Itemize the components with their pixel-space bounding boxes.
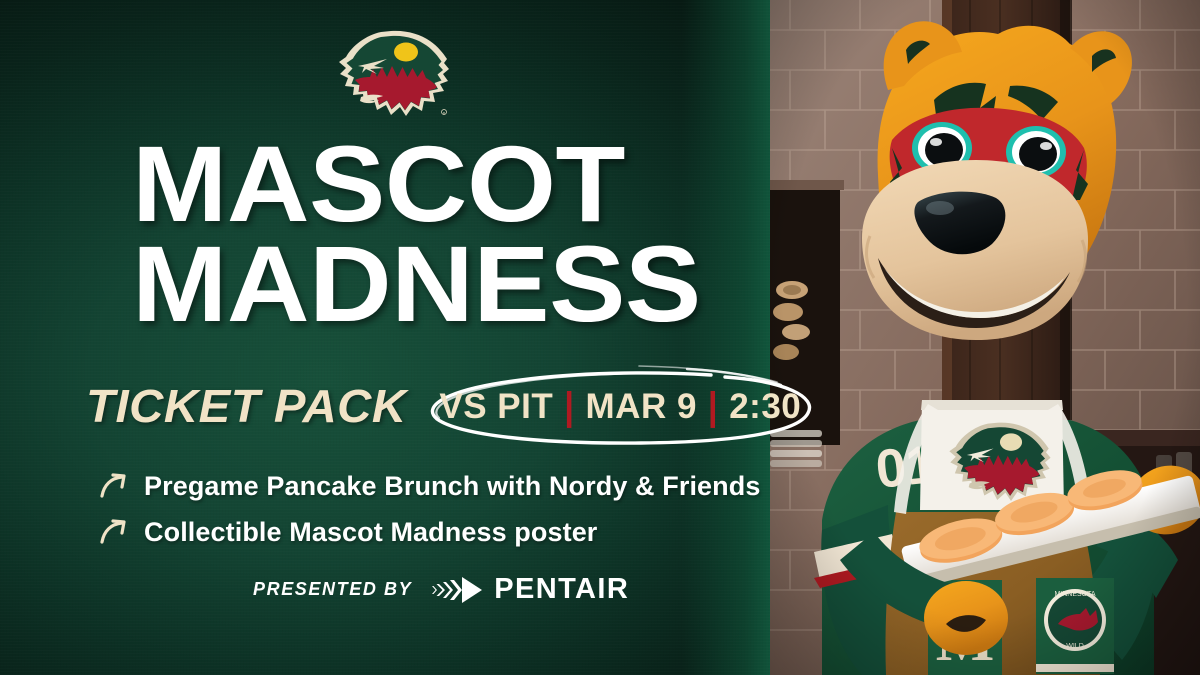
badge-time: 2:30 bbox=[729, 387, 801, 427]
pentair-arrow-icon bbox=[432, 575, 486, 605]
list-item: Collectible Mascot Madness poster bbox=[98, 511, 760, 553]
badge-text: VS PIT | MAR 9 | 2:30 bbox=[439, 387, 801, 427]
list-item: Pregame Pancake Brunch with Nordy & Frie… bbox=[98, 465, 760, 507]
ticket-pack-label: TICKET PACK bbox=[86, 379, 407, 433]
headline-line-2: MADNESS bbox=[132, 234, 701, 334]
game-info-badge: VS PIT | MAR 9 | 2:30 bbox=[425, 363, 815, 449]
perks-list: Pregame Pancake Brunch with Nordy & Frie… bbox=[98, 465, 760, 553]
headline-line-1: MASCOT bbox=[132, 134, 701, 234]
badge-opponent: VS PIT bbox=[439, 387, 553, 427]
presented-by-row: PRESENTED BY PENTAIR bbox=[253, 573, 629, 606]
pentair-wordmark: PENTAIR bbox=[494, 573, 629, 606]
badge-date: MAR 9 bbox=[586, 387, 697, 427]
curved-arrow-icon bbox=[98, 515, 132, 549]
curved-arrow-icon bbox=[98, 469, 132, 503]
badge-separator-1: | bbox=[564, 385, 574, 430]
list-item-label: Collectible Mascot Madness poster bbox=[144, 517, 597, 548]
subhead-row: TICKET PACK VS PIT | MAR 9 | 2:30 bbox=[86, 363, 815, 449]
badge-separator-2: | bbox=[708, 385, 718, 430]
list-item-label: Pregame Pancake Brunch with Nordy & Frie… bbox=[144, 471, 760, 502]
pentair-logo: PENTAIR bbox=[432, 573, 629, 606]
presented-by-label: PRESENTED BY bbox=[253, 579, 412, 600]
minnesota-wild-logo: R bbox=[331, 28, 453, 120]
nordy-mascot-photo: 01 M bbox=[770, 0, 1200, 675]
page-title: MASCOT MADNESS bbox=[132, 134, 669, 335]
promo-graphic: R MASCOT MADNESS TICKET PACK VS PIT bbox=[0, 0, 1200, 675]
